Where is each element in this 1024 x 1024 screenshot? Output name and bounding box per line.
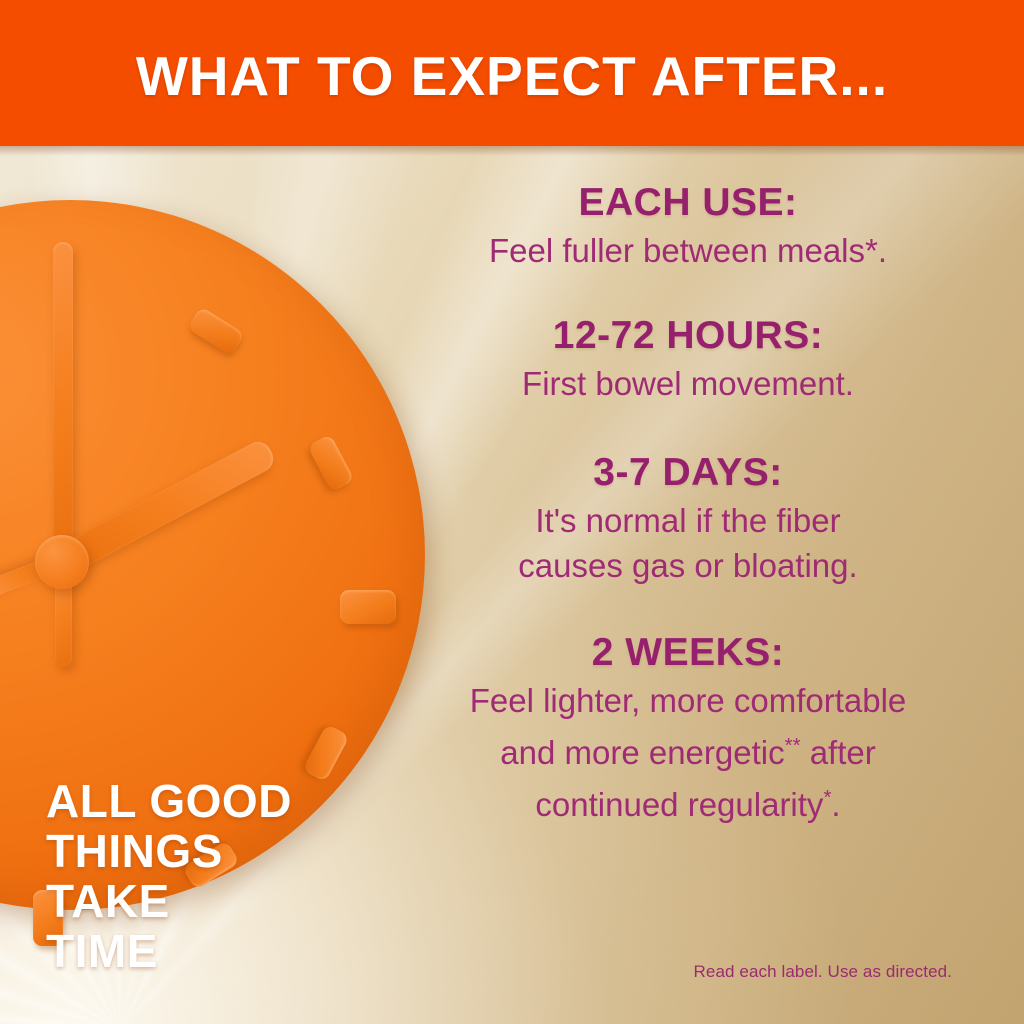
timeline-body: First bowel movement. (372, 361, 1004, 406)
header-bar: WHAT TO EXPECT AFTER... (0, 0, 1024, 146)
timeline-body-line-2: and more energetic** after (372, 723, 1004, 775)
timeline-body-line-1: It's normal if the fiber (372, 498, 1004, 543)
timeline-item-each-use: EACH USE: Feel fuller between meals*. (372, 178, 1004, 273)
clock-tagline: ALL GOOD THINGS TAKE TIME (46, 776, 376, 976)
clock-tagline-line-3: TAKE (46, 876, 376, 926)
infographic-poster: WHAT TO EXPECT AFTER... ALL GOOD THINGS (0, 0, 1024, 1024)
timeline-body-line-1: Feel lighter, more comfortable (372, 678, 1004, 723)
timeline-heading: EACH USE: (372, 178, 1004, 228)
clock-tagline-line-4: TIME (46, 926, 376, 976)
clock-minute-hand (53, 242, 73, 562)
clock-marker-1 (187, 306, 245, 356)
timeline-heading: 2 WEEKS: (372, 628, 1004, 678)
header-shadow (0, 146, 1024, 156)
timeline-body-text-after: after (801, 734, 876, 771)
timeline-item-2-weeks: 2 WEEKS: Feel lighter, more comfortable … (372, 628, 1004, 827)
timeline-body-text: continued regularity (535, 786, 823, 823)
clock-marker-2 (307, 434, 354, 492)
timeline-heading: 12-72 HOURS: (372, 311, 1004, 361)
clock-tagline-line-1: ALL GOOD (46, 776, 376, 826)
clock-tagline-line-2: THINGS (46, 826, 376, 876)
page-title: WHAT TO EXPECT AFTER... (0, 46, 1024, 106)
timeline-body: Feel fuller between meals*. (372, 228, 1004, 273)
disclaimer-text: Read each label. Use as directed. (694, 962, 952, 982)
timeline-body-text: and more energetic (500, 734, 784, 771)
timeline-item-3-7-days: 3-7 DAYS: It's normal if the fiber cause… (372, 448, 1004, 588)
clock-marker-4 (302, 724, 349, 782)
timeline-body-text-after: . (831, 786, 840, 823)
timeline-heading: 3-7 DAYS: (372, 448, 1004, 498)
timeline-item-12-72-hours: 12-72 HOURS: First bowel movement. (372, 311, 1004, 406)
timeline-body-line-3: continued regularity*. (372, 775, 1004, 827)
clock-center-hub (35, 535, 89, 589)
timeline-body-line-2: causes gas or bloating. (372, 543, 1004, 588)
footnote-marker-double: ** (785, 734, 801, 757)
timeline-content: EACH USE: Feel fuller between meals*. 12… (372, 176, 1004, 966)
